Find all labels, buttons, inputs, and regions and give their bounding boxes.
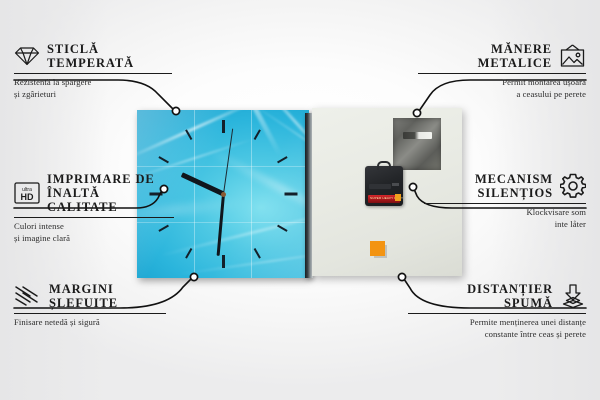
feature-title: MĂNERE METALICE [478, 42, 552, 70]
feature-header: MĂNERE METALICE [418, 42, 586, 70]
picture-hanger-icon [559, 44, 586, 68]
feature-header: STICLĂ TEMPERATĂ [14, 42, 172, 70]
title-rule [418, 73, 586, 74]
diamond-icon [14, 46, 40, 66]
feature-subtitle-line1: Rezistentă la spargere [14, 77, 172, 88]
polished-edge-lines-icon [14, 285, 42, 307]
feature-title: MARGINI ȘLEFUITE [49, 282, 118, 310]
feature-subtitle-line2: și imagine clară [14, 233, 174, 244]
feature-subtitle-line2: inte låter [424, 219, 586, 230]
feature-header: MECANISM SILENȚIOS [424, 172, 586, 200]
feature-title: IMPRIMARE DE ÎNALTĂ CALITATE [47, 172, 174, 214]
title-rule [14, 217, 174, 218]
title-rule [14, 313, 166, 314]
feature-hd-print: ultra HD IMPRIMARE DE ÎNALTĂ CALITATE Cu… [14, 172, 174, 244]
feature-polished-edges: MARGINI ȘLEFUITE Finisare netedă și sigu… [14, 282, 166, 329]
ultra-hd-large-text: HD [21, 192, 34, 202]
feature-title: MECANISM SILENȚIOS [475, 172, 553, 200]
feature-subtitle-line1: Finisare netedă și sigură [14, 317, 166, 328]
connector-endpoint-metal-hangers [413, 109, 420, 116]
feature-subtitle-line2: constante între ceas și perete [408, 329, 586, 340]
feature-title: DISTANȚIER SPUMĂ [467, 282, 553, 310]
feature-header: MARGINI ȘLEFUITE [14, 282, 166, 310]
feature-subtitle-line1: Culori intense [14, 221, 174, 232]
feature-subtitle-line2: și zgârieturi [14, 89, 172, 100]
feature-subtitle-line2: a ceasului pe perete [418, 89, 586, 100]
feature-title: STICLĂ TEMPERATĂ [47, 42, 134, 70]
feature-subtitle-line1: Permite menținerea unei distanțe [408, 317, 586, 328]
connector-endpoint-polished-edges [190, 273, 197, 280]
connector-endpoint-tempered-glass [172, 107, 179, 114]
product-infographic: SUPER HEAVY DUTY [0, 0, 600, 400]
feature-tempered-glass: STICLĂ TEMPERATĂ Rezistentă la spargere … [14, 42, 172, 100]
connector-endpoint-foam-spacer [398, 273, 405, 280]
feature-header: ultra HD IMPRIMARE DE ÎNALTĂ CALITATE [14, 172, 174, 214]
feature-silent-movement: MECANISM SILENȚIOS Klockvisare som inte … [424, 172, 586, 230]
title-rule [424, 203, 586, 204]
connector-endpoint-silent-movement [409, 183, 416, 190]
gear-icon [560, 173, 586, 199]
feature-subtitle-line1: Klockvisare som [424, 207, 586, 218]
feature-metal-hangers: MĂNERE METALICE Permit montarea ușoară a… [418, 42, 586, 100]
feature-header: DISTANȚIER SPUMĂ [408, 282, 586, 310]
feature-foam-spacer: DISTANȚIER SPUMĂ Permite menținerea unei… [408, 282, 586, 340]
title-rule [408, 313, 586, 314]
title-rule [14, 73, 172, 74]
down-arrow-stack-icon [560, 284, 586, 309]
feature-subtitle-line1: Permit montarea ușoară [418, 77, 586, 88]
ultra-hd-icon: ultra HD [14, 182, 40, 204]
